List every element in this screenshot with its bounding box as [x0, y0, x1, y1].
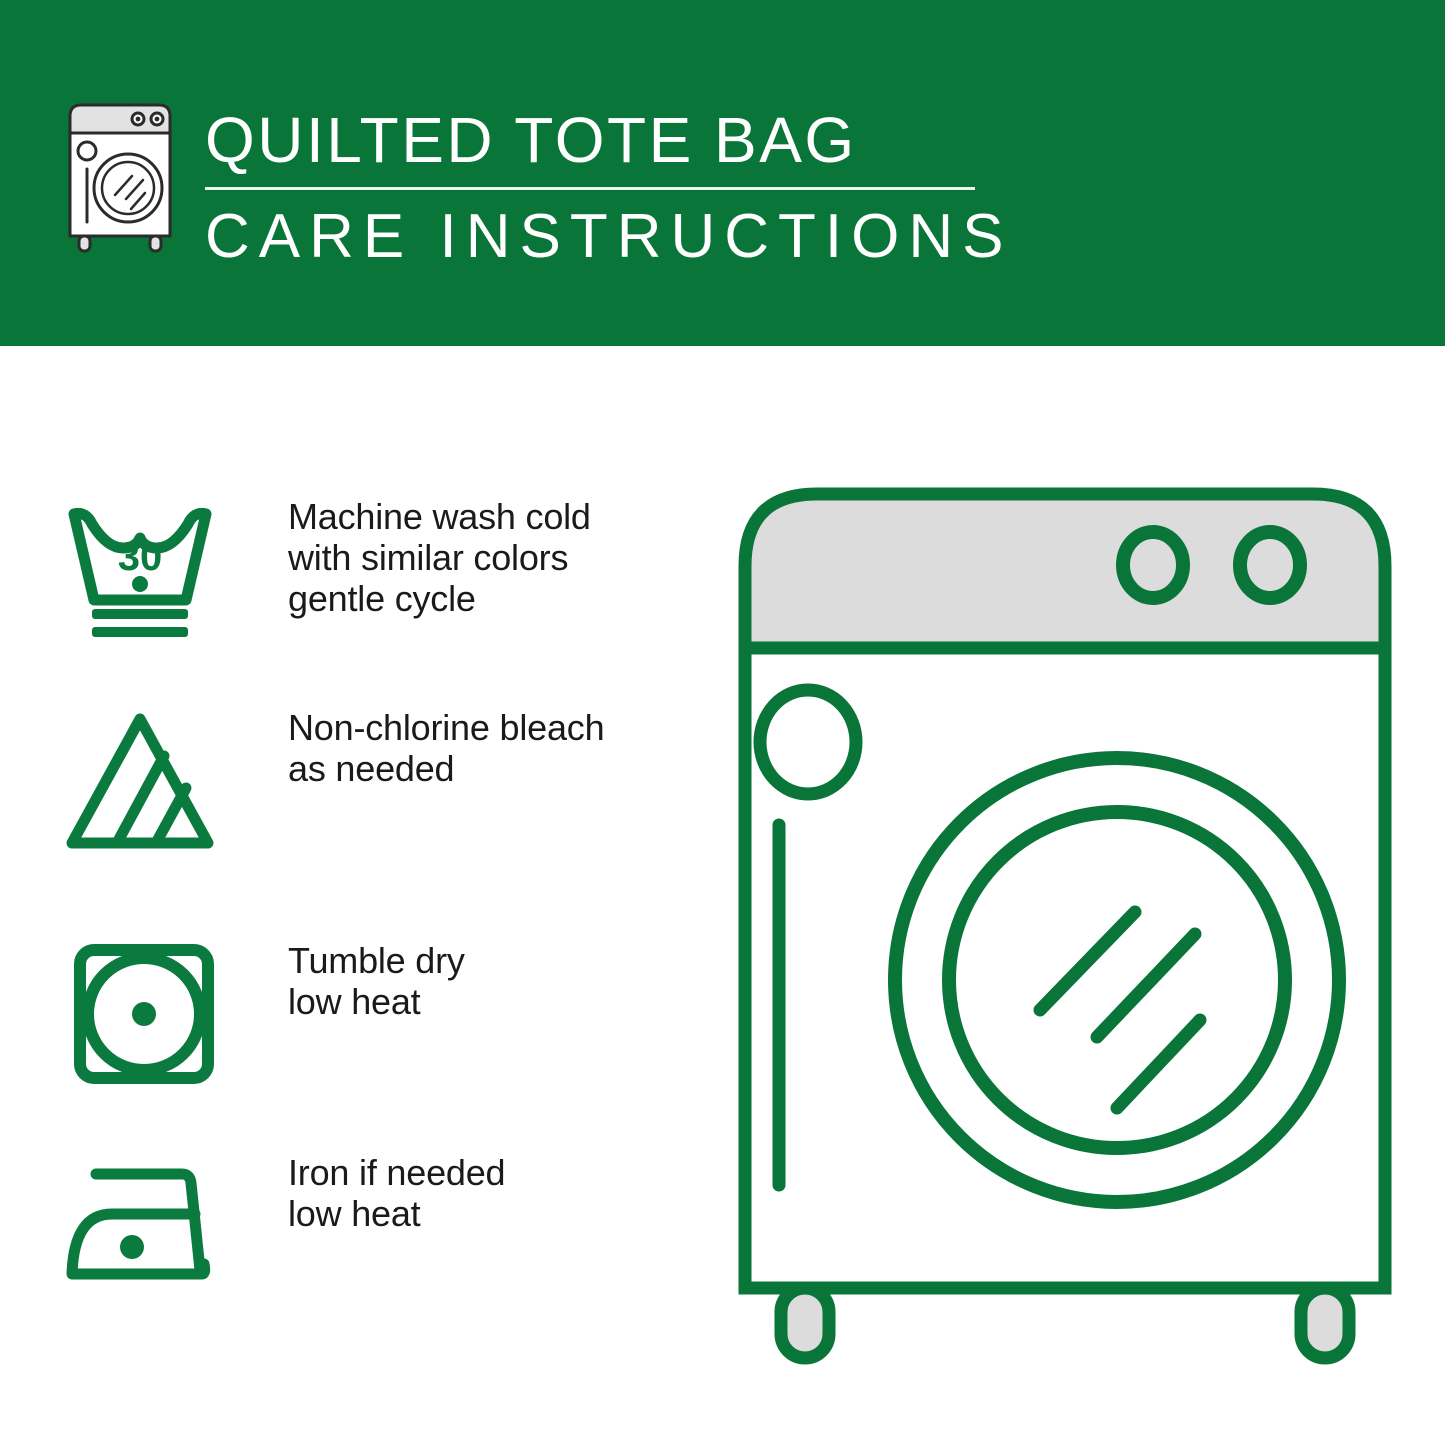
- care-text-line: Machine wash cold: [288, 496, 591, 537]
- care-symbol-wrapper: [60, 940, 235, 1088]
- care-symbol-wrapper: 30: [60, 496, 235, 644]
- care-row-tumble-dry: Tumble dry low heat: [60, 940, 700, 1088]
- care-row-bleach: Non-chlorine bleach as needed: [60, 707, 700, 855]
- care-text-line: gentle cycle: [288, 578, 591, 619]
- iron-low-heat-icon: [60, 1152, 220, 1300]
- machine-control-panel: [745, 494, 1385, 648]
- care-text-machine-wash: Machine wash cold with similar colors ge…: [235, 496, 591, 619]
- care-text-line: Iron if needed: [288, 1152, 505, 1193]
- machine-leg-right: [1301, 1288, 1349, 1358]
- care-text-line: low heat: [288, 1193, 505, 1234]
- header-banner: QUILTED TOTE BAG CARE INSTRUCTIONS: [0, 0, 1445, 346]
- page-subtitle: CARE INSTRUCTIONS: [205, 202, 1005, 272]
- care-text-tumble-dry: Tumble dry low heat: [235, 940, 465, 1022]
- care-text-line: low heat: [288, 981, 465, 1022]
- care-row-iron: Iron if needed low heat: [60, 1152, 700, 1300]
- care-symbol-wrapper: [60, 1152, 235, 1300]
- care-text-iron: Iron if needed low heat: [235, 1152, 505, 1234]
- page-title: QUILTED TOTE BAG: [205, 103, 1005, 177]
- care-text-bleach: Non-chlorine bleach as needed: [235, 707, 604, 789]
- machine-leg-left: [781, 1288, 829, 1358]
- care-symbol-wrapper: [60, 707, 235, 855]
- care-row-machine-wash: 30 Machine wash cold with similar colors…: [60, 496, 700, 644]
- care-instructions-infographic: QUILTED TOTE BAG CARE INSTRUCTIONS 30 Ma…: [0, 0, 1445, 1445]
- wash-temperature-label: 30: [118, 535, 163, 579]
- wash-tub-30-gentle-icon: 30: [60, 496, 220, 644]
- washing-machine-icon: [60, 100, 180, 255]
- care-text-line: Tumble dry: [288, 940, 465, 981]
- header-text-block: QUILTED TOTE BAG CARE INSTRUCTIONS: [205, 103, 1005, 272]
- care-text-line: with similar colors: [288, 537, 591, 578]
- triangle-non-chlorine-bleach-icon: [60, 707, 220, 855]
- care-text-line: Non-chlorine bleach: [288, 707, 604, 748]
- care-text-line: as needed: [288, 748, 604, 789]
- title-divider: [205, 187, 975, 190]
- washing-machine-illustration: [735, 480, 1395, 1370]
- tumble-dry-low-icon: [60, 940, 220, 1088]
